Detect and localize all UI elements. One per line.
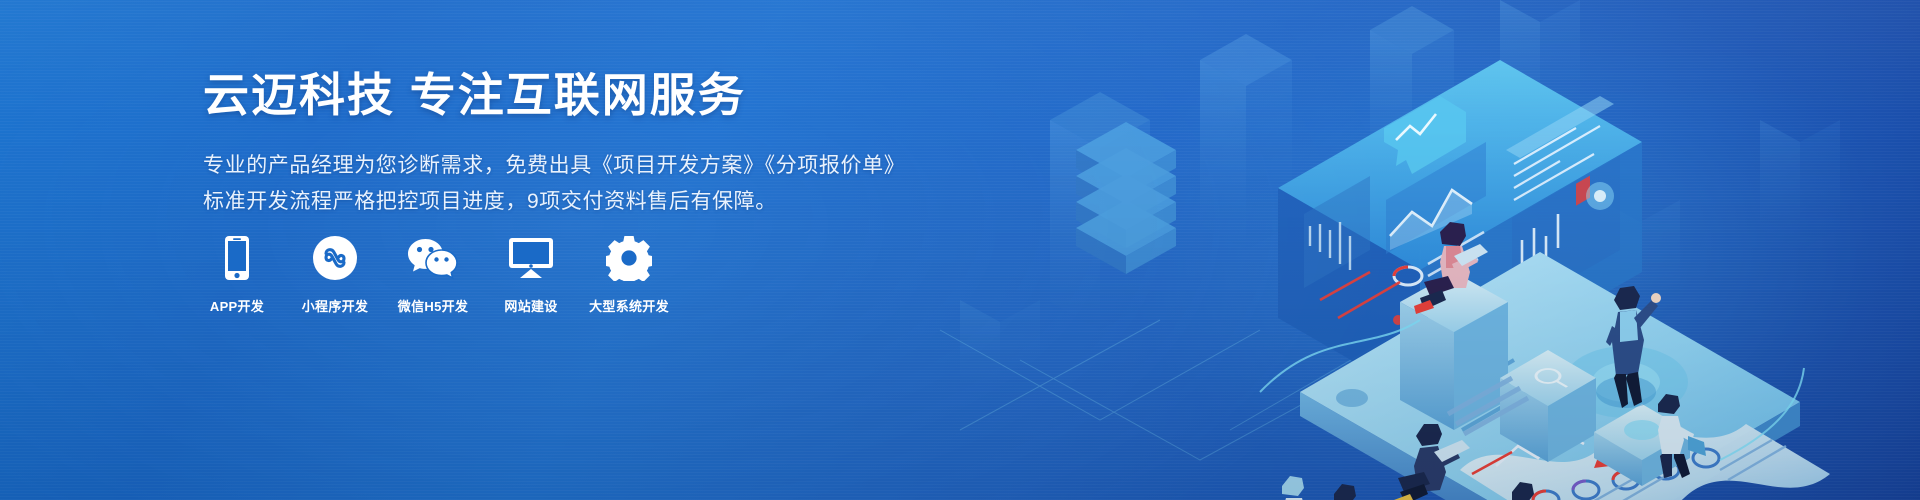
hero-subcopy: 专业的产品经理为您诊断需求，免费出具《项目开发方案》《分项报价单》 标准开发流程… (203, 148, 923, 220)
service-label: 网站建设 (504, 296, 557, 315)
subcopy-line-2: 标准开发流程严格把控项目进度，9项交付资料售后有保障。 (203, 184, 923, 220)
isometric-illustration (900, 0, 1920, 500)
service-label: APP开发 (210, 296, 264, 315)
service-item-website[interactable]: 网站建设 (494, 232, 568, 315)
person-presenter (1596, 286, 1661, 408)
dashboard-screen (1278, 60, 1642, 400)
mobile-phone-icon (220, 232, 254, 284)
service-label: 小程序开发 (302, 296, 369, 315)
service-item-miniprogram[interactable]: 小程序开发 (298, 232, 372, 315)
monitor-icon (507, 232, 555, 284)
hero-banner: 云迈科技 专注互联网服务 专业的产品经理为您诊断需求，免费出具《项目开发方案》《… (0, 0, 1920, 500)
connector-curve (1260, 320, 1804, 460)
chat-bubble (1384, 96, 1466, 174)
person-bottom-right (1512, 482, 1538, 500)
step-blocks (1400, 272, 1690, 486)
background-blocks (960, 0, 1840, 410)
report-paper (1460, 424, 1830, 500)
mini-program-icon (312, 232, 358, 284)
person-sitting-laptop (1394, 378, 1528, 500)
hero-copy: 云迈科技 专注互联网服务 专业的产品经理为您诊断需求，免费出具《项目开发方案》《… (203, 68, 923, 220)
service-label: 大型系统开发 (589, 296, 669, 315)
wechat-icon (407, 232, 459, 284)
person-sitting-block (1414, 222, 1488, 314)
server-stack (1076, 122, 1176, 274)
service-item-system[interactable]: 大型系统开发 (592, 232, 666, 315)
person-walking (1658, 394, 1706, 478)
wire-grid (940, 250, 1780, 470)
service-item-app[interactable]: APP开发 (200, 232, 274, 315)
subcopy-line-1: 专业的产品经理为您诊断需求，免费出具《项目开发方案》《分项报价单》 (203, 148, 923, 184)
service-list: APP开发 小程序开发 (200, 232, 666, 315)
tablet-platform (1300, 252, 1800, 500)
service-label: 微信H5开发 (398, 296, 468, 315)
page-title: 云迈科技 专注互联网服务 (203, 68, 923, 122)
gear-icon (606, 232, 652, 284)
person-pair-left (1282, 476, 1360, 500)
service-item-wechat[interactable]: 微信H5开发 (396, 232, 470, 315)
